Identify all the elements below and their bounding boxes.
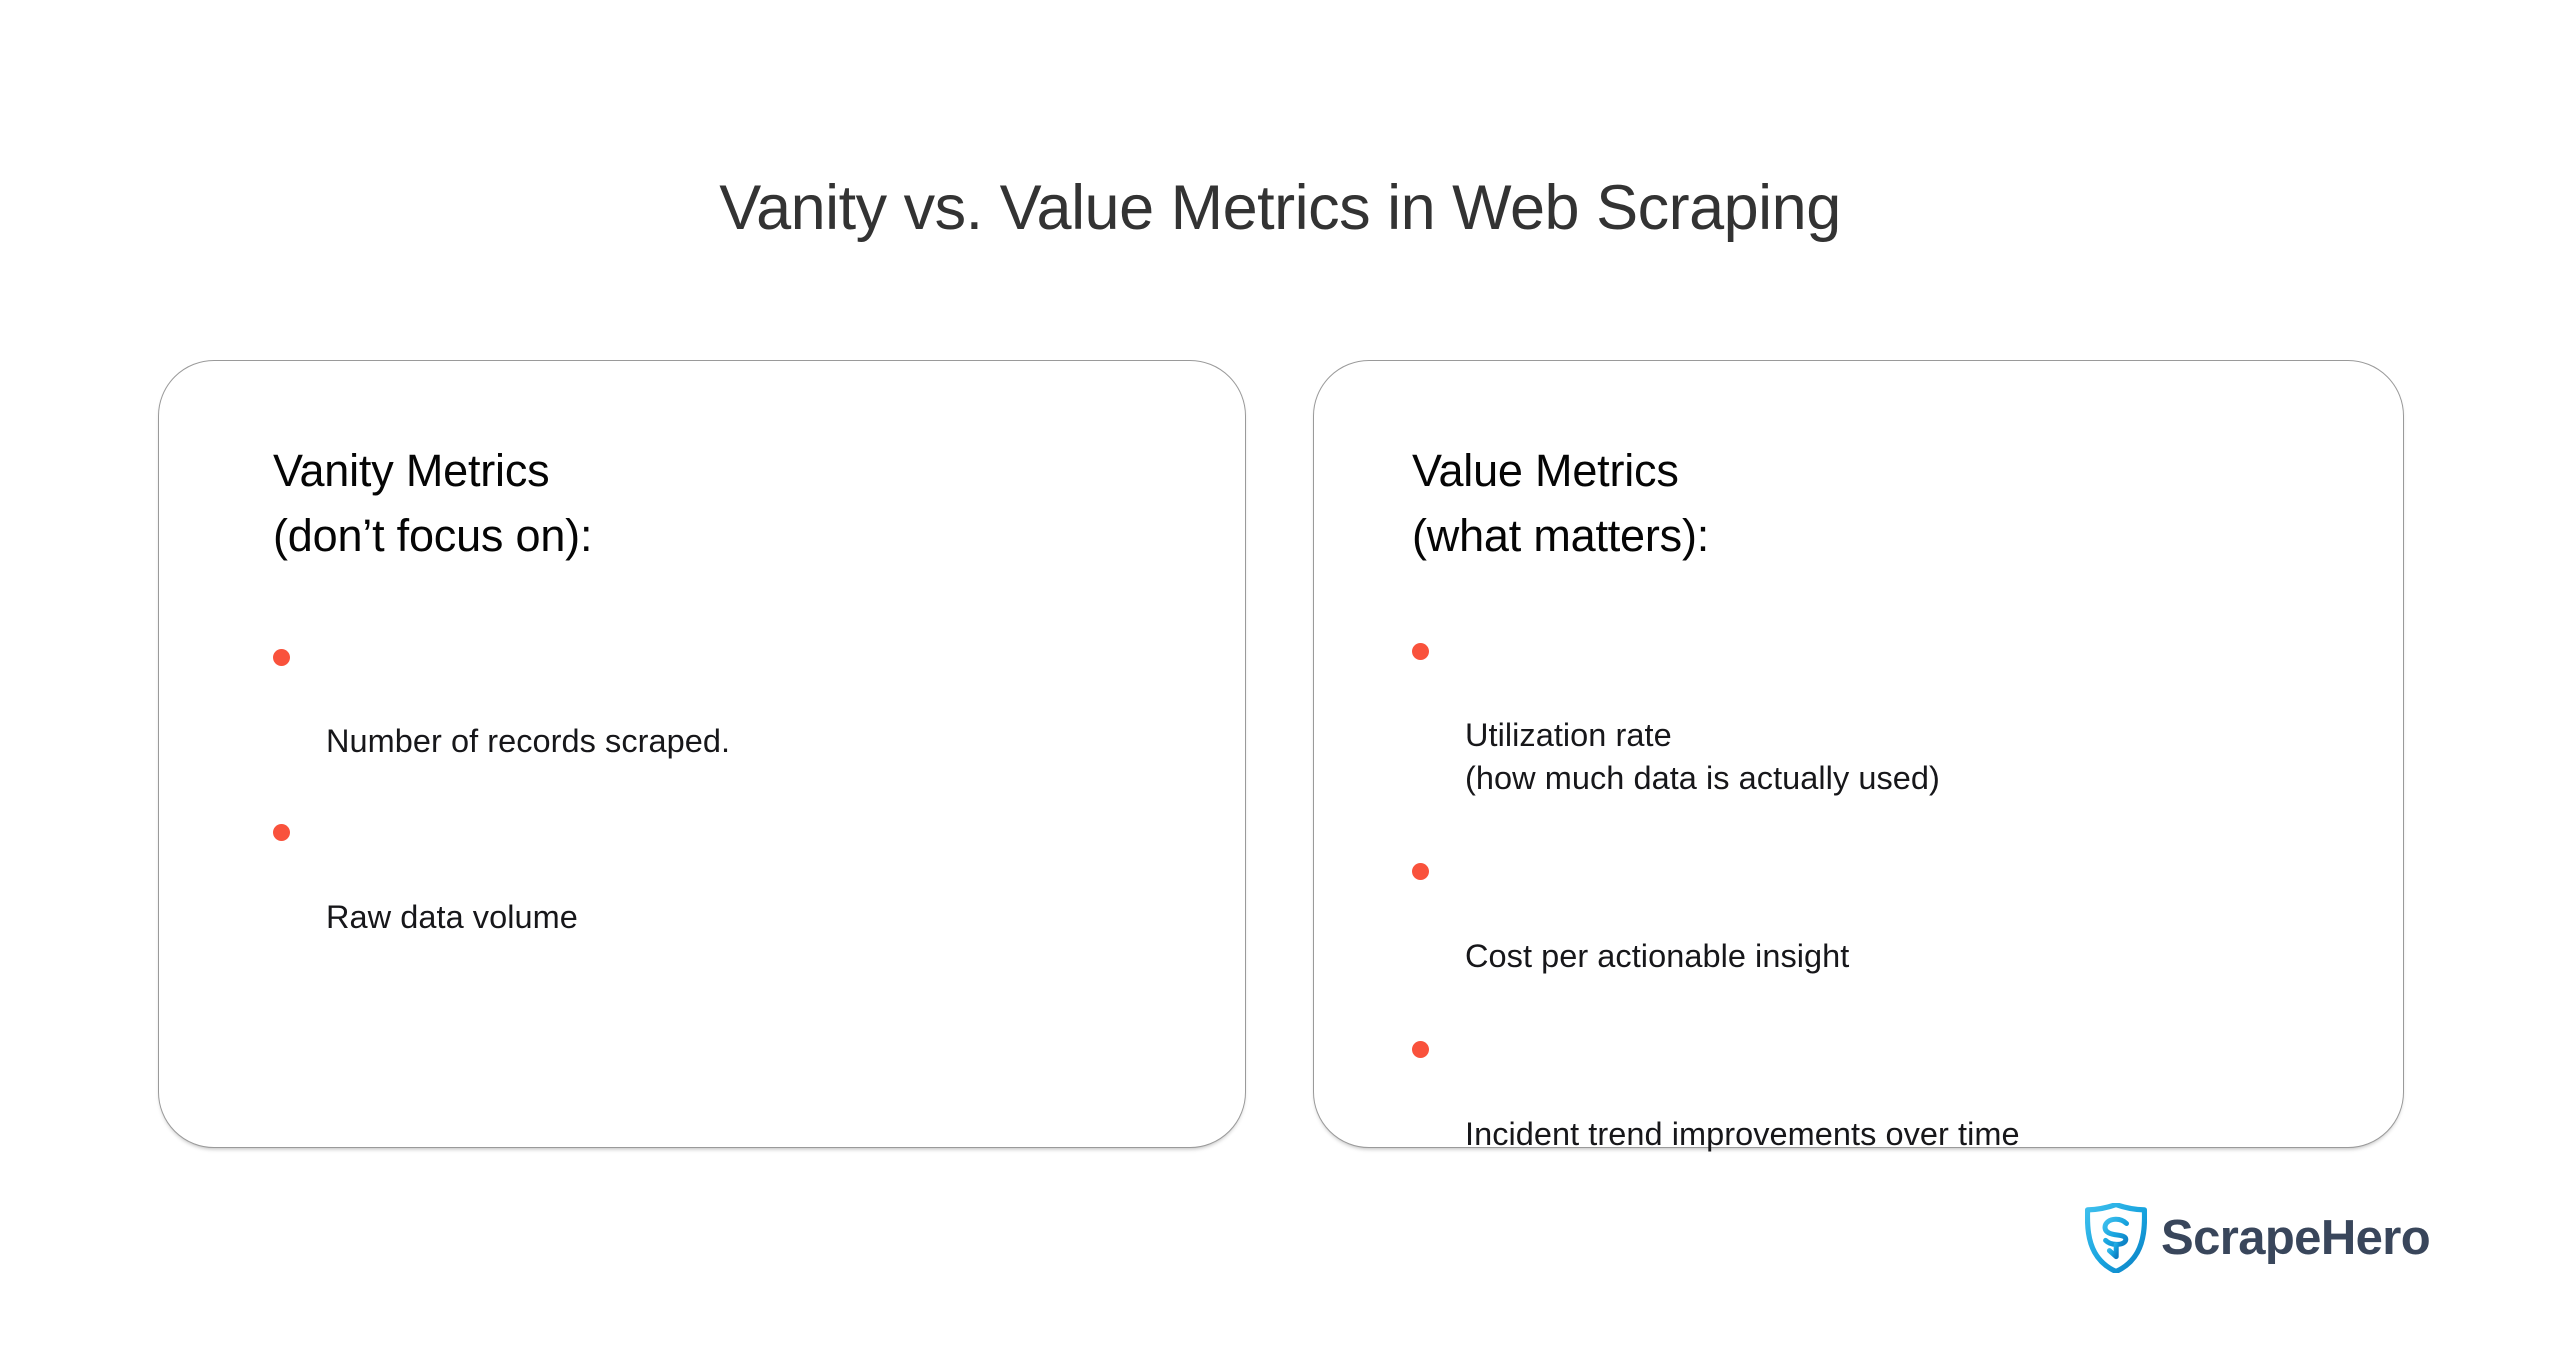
card-value-metrics: Value Metrics (what matters): Utilizatio…: [1313, 360, 2404, 1148]
bullet-list-vanity: Number of records scraped. Raw data volu…: [273, 635, 1185, 939]
list-item-label: Number of records scraped.: [326, 723, 730, 759]
card-vanity-metrics: Vanity Metrics (don’t focus on): Number …: [158, 360, 1246, 1148]
metrics-card-row: Vanity Metrics (don’t focus on): Number …: [158, 360, 2404, 1148]
card-heading-value: Value Metrics (what matters):: [1412, 439, 2343, 569]
bullet-dot-icon: [1412, 1041, 1429, 1058]
list-item-label: Cost per actionable insight: [1465, 938, 1849, 974]
list-item: Incident trend improvements over time: [1412, 1027, 2343, 1156]
list-item: Cost per actionable insight: [1412, 849, 2343, 978]
list-item: Utilization rate (how much data is actua…: [1412, 629, 2343, 801]
list-item-label: Incident trend improvements over time: [1465, 1116, 2020, 1152]
bullet-dot-icon: [273, 824, 290, 841]
bullet-dot-icon: [1412, 863, 1429, 880]
scrapehero-wordmark: ScrapeHero: [2161, 1214, 2430, 1263]
infographic-page: Vanity vs. Value Metrics in Web Scraping…: [0, 0, 2560, 1369]
card-heading-vanity: Vanity Metrics (don’t focus on):: [273, 439, 1185, 569]
list-item-label: Utilization rate (how much data is actua…: [1465, 717, 1940, 796]
shield-s-icon: [2085, 1203, 2147, 1273]
bullet-dot-icon: [273, 649, 290, 666]
card-content: Value Metrics (what matters): Utilizatio…: [1314, 361, 2403, 1156]
bullet-list-value: Utilization rate (how much data is actua…: [1412, 629, 2343, 1156]
list-item: Number of records scraped.: [273, 635, 1185, 764]
list-item-label: Raw data volume: [326, 899, 578, 935]
bullet-dot-icon: [1412, 643, 1429, 660]
card-content: Vanity Metrics (don’t focus on): Number …: [159, 361, 1245, 939]
scrapehero-logo: ScrapeHero: [2085, 1203, 2430, 1273]
page-title: Vanity vs. Value Metrics in Web Scraping: [0, 174, 2560, 243]
list-item: Raw data volume: [273, 810, 1185, 939]
